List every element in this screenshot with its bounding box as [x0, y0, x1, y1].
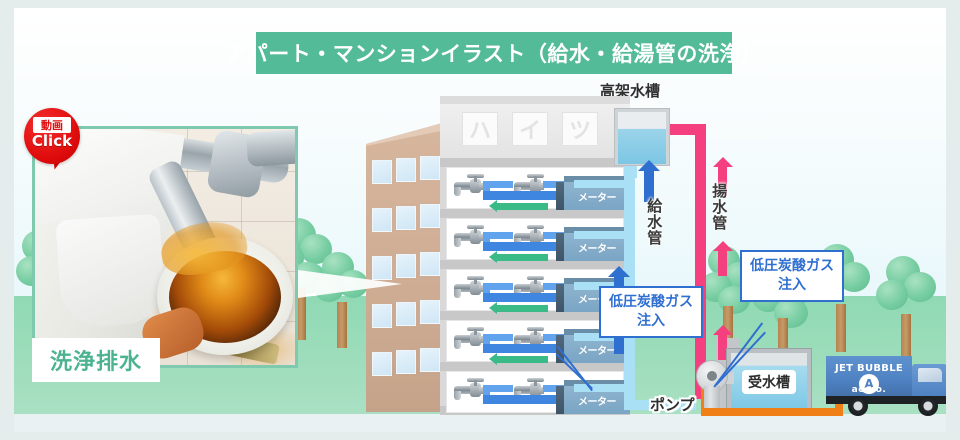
callout-gas-injection-riser: 低圧炭酸ガス 注入	[599, 286, 703, 338]
pump-hub	[707, 371, 717, 381]
callout-gas-injection-tank: 低圧炭酸ガス 注入	[740, 250, 844, 302]
building-window	[372, 208, 392, 232]
truck-wheel-rear	[848, 396, 868, 416]
building-window	[420, 348, 440, 372]
building-slab	[440, 260, 630, 269]
page-title: アパート・マンションイラスト（給水・給湯管の洗浄）	[256, 32, 732, 74]
building-window	[396, 158, 416, 182]
lift-pipe-vertical	[695, 124, 706, 398]
faucet-icon	[454, 174, 484, 198]
photo-tap-secondary	[246, 129, 298, 167]
building-window	[372, 352, 392, 376]
video-badge-click-label: Click	[24, 134, 80, 149]
faucet-icon	[454, 378, 484, 402]
building-roof-cap	[440, 96, 630, 104]
building-sign-char-0: ハ	[462, 112, 498, 146]
label-supply-pipe: 給水管	[646, 198, 662, 246]
label-pump: ポンプ	[650, 394, 695, 415]
faucet-icon	[454, 225, 484, 249]
building-window	[396, 350, 416, 374]
illustration-canvas: アパート・マンションイラスト（給水・給湯管の洗浄） ハ イ	[14, 8, 946, 432]
building-window	[372, 160, 392, 184]
building-slab	[440, 209, 630, 218]
flow-arrow-green	[496, 305, 548, 312]
flow-arrow-green	[496, 203, 548, 210]
truck-top-text: JET BUBBLE	[826, 363, 912, 374]
truck-brand-text: acoro.	[826, 385, 912, 395]
tree-right-4	[876, 256, 936, 360]
tree-trunk	[901, 314, 911, 360]
tree-foliage	[904, 272, 936, 302]
flow-arrow-green	[496, 254, 548, 261]
faucet-icon	[454, 327, 484, 351]
video-badge-kanji: 動画	[33, 117, 71, 133]
tree-trunk	[337, 302, 347, 348]
supply-branch-pipe	[574, 180, 626, 188]
service-truck: JET BUBBLE A acoro.	[826, 356, 946, 414]
building-window	[396, 302, 416, 326]
building-window	[420, 156, 440, 180]
illustration-root: アパート・マンションイラスト（給水・給湯管の洗浄） ハ イ	[0, 0, 960, 440]
pump-base	[704, 386, 720, 408]
ground-bottom-strip	[14, 414, 946, 432]
truck-wheel-front	[918, 396, 938, 416]
building-slab	[440, 362, 630, 371]
building-window	[420, 300, 440, 324]
photo-caption: 洗浄排水	[32, 338, 160, 382]
callout-line-2: 注入	[637, 313, 665, 329]
building-window	[396, 206, 416, 230]
building-window	[372, 304, 392, 328]
building-slab	[440, 158, 630, 167]
elevated-water-tank	[614, 108, 670, 166]
callout-line-1: 低圧炭酸ガス	[750, 258, 834, 274]
callout-line-1: 低圧炭酸ガス	[609, 294, 693, 310]
building-window	[420, 204, 440, 228]
supply-branch-pipe	[574, 231, 626, 239]
tank-water	[618, 112, 666, 164]
photo-pointer-beam	[298, 270, 402, 298]
tree-foliage	[876, 280, 908, 310]
tree-trunk	[836, 304, 846, 352]
faucet-icon	[454, 276, 484, 300]
photo-bucket	[55, 214, 166, 329]
supply-branch-pipe	[574, 384, 626, 392]
video-click-badge[interactable]: 動画 Click	[24, 108, 80, 164]
callout-line-2: 注入	[778, 277, 806, 293]
truck-windshield	[918, 368, 942, 382]
flow-arrow-green	[496, 356, 548, 363]
building-window	[420, 252, 440, 276]
tree-left-3	[314, 252, 370, 348]
label-lift-pipe: 揚水管	[711, 183, 727, 231]
building-sign-char-2: ツ	[562, 112, 598, 146]
label-receiving-tank: 受水槽	[742, 370, 796, 394]
flow-arrow-up-lift	[718, 250, 727, 276]
building-sign-char-1: イ	[512, 112, 548, 146]
